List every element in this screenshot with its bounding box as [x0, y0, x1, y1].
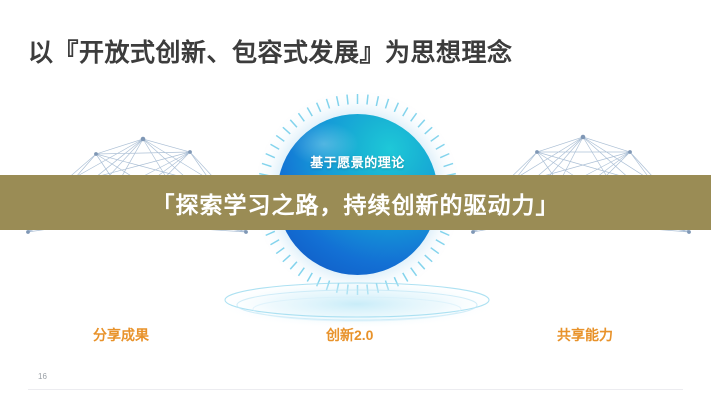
slide-canvas: 以『开放式创新、包容式发展』为思想理念 [0, 0, 711, 400]
bottom-label-innovation-2-0: 创新2.0 [326, 325, 373, 345]
sphere-text-line-1: 基于愿景的理论 [277, 152, 438, 171]
page-number: 16 [38, 372, 47, 381]
bottom-label-shared-capability: 共享能力 [557, 325, 613, 345]
footer-divider [28, 389, 683, 390]
page-title: 以『开放式创新、包容式发展』为思想理念 [28, 33, 513, 69]
bottom-label-share-results: 分享成果 [93, 325, 149, 345]
caption-band: 「探索学习之路，持续创新的驱动力」 [0, 175, 711, 230]
caption-text: 「探索学习之路，持续创新的驱动力」 [152, 186, 560, 220]
